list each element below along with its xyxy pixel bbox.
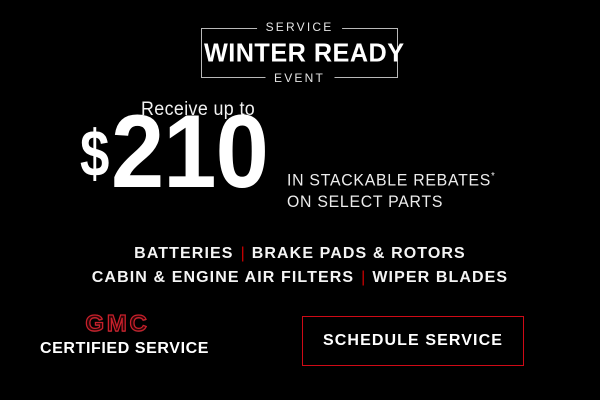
event-badge: SERVICE WINTER READY EVENT [201, 28, 398, 78]
footnote-marker: * [491, 171, 495, 182]
parts-line-2: CABIN & ENGINE AIR FILTERS|WIPER BLADES [0, 266, 600, 290]
parts-separator-icon: | [241, 245, 245, 262]
currency-symbol: $ [80, 128, 108, 179]
schedule-service-button[interactable]: SCHEDULE SERVICE [302, 316, 524, 366]
rebate-line-2: ON SELECT PARTS [287, 192, 443, 211]
part-item: WIPER BLADES [372, 269, 508, 286]
badge-footer-label: EVENT [265, 72, 334, 85]
rebate-line-1: IN STACKABLE REBATES [287, 171, 491, 190]
part-item: CABIN & ENGINE AIR FILTERS [92, 269, 354, 286]
offer-amount: 210 [111, 112, 268, 193]
eligible-parts-list: BATTERIES|BRAKE PADS & ROTORS CABIN & EN… [0, 242, 600, 290]
parts-separator-icon: | [361, 269, 365, 286]
certified-service-tagline: CERTIFIED SERVICE [40, 340, 195, 358]
schedule-service-button-label: SCHEDULE SERVICE [323, 332, 503, 350]
offer-price: $ 210 [80, 112, 281, 193]
badge-eyebrow-label: SERVICE [257, 21, 343, 34]
winter-ready-service-ad: SERVICE WINTER READY EVENT Receive up to… [0, 0, 600, 400]
badge-title: WINTER READY [204, 38, 395, 69]
gmc-certified-service-lockup: GMC CERTIFIED SERVICE [40, 310, 195, 358]
part-item: BRAKE PADS & ROTORS [252, 245, 466, 262]
gmc-logo: GMC [36, 310, 199, 336]
offer-description: IN STACKABLE REBATES* ON SELECT PARTS [287, 166, 495, 212]
part-item: BATTERIES [134, 245, 233, 262]
parts-line-1: BATTERIES|BRAKE PADS & ROTORS [0, 242, 600, 266]
